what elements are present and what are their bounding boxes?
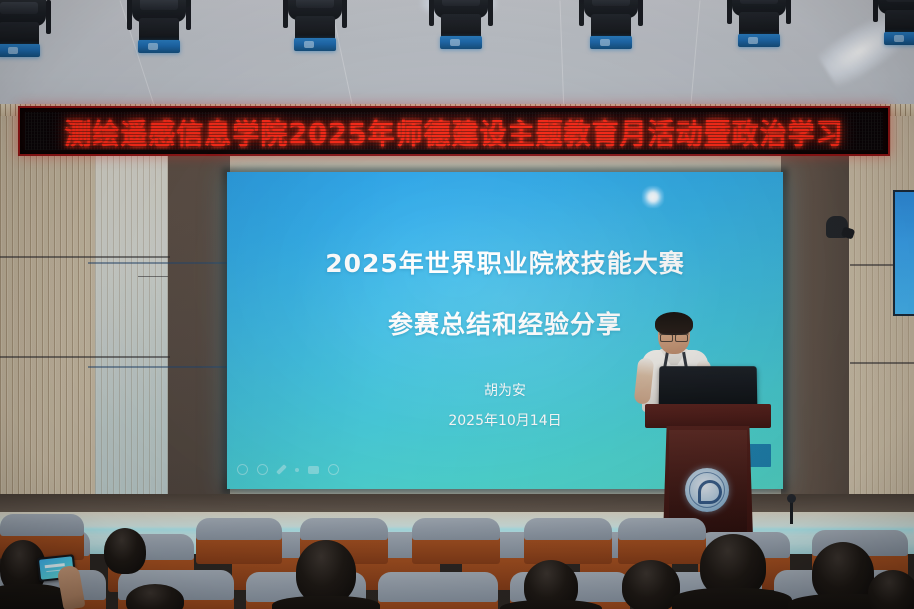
- audience-shoulders: [272, 596, 380, 609]
- auditorium-scene: 测绘遥感信息学院2025年师德建设主题教育月活动暨政治学习 2025年世界职业院…: [0, 0, 914, 609]
- audience-head: [104, 528, 146, 574]
- audience-head: [296, 540, 356, 604]
- audience-shoulders: [500, 600, 602, 609]
- seat-back: [196, 518, 282, 540]
- audience-head: [868, 570, 914, 609]
- audience-seating: [0, 0, 914, 609]
- seat-back: [524, 518, 612, 540]
- audience-shoulders: [672, 588, 792, 609]
- seat-back: [378, 572, 498, 602]
- seat-back: [300, 518, 388, 540]
- seat-back: [0, 514, 84, 536]
- seat-back: [618, 518, 706, 540]
- seat-back: [412, 518, 500, 540]
